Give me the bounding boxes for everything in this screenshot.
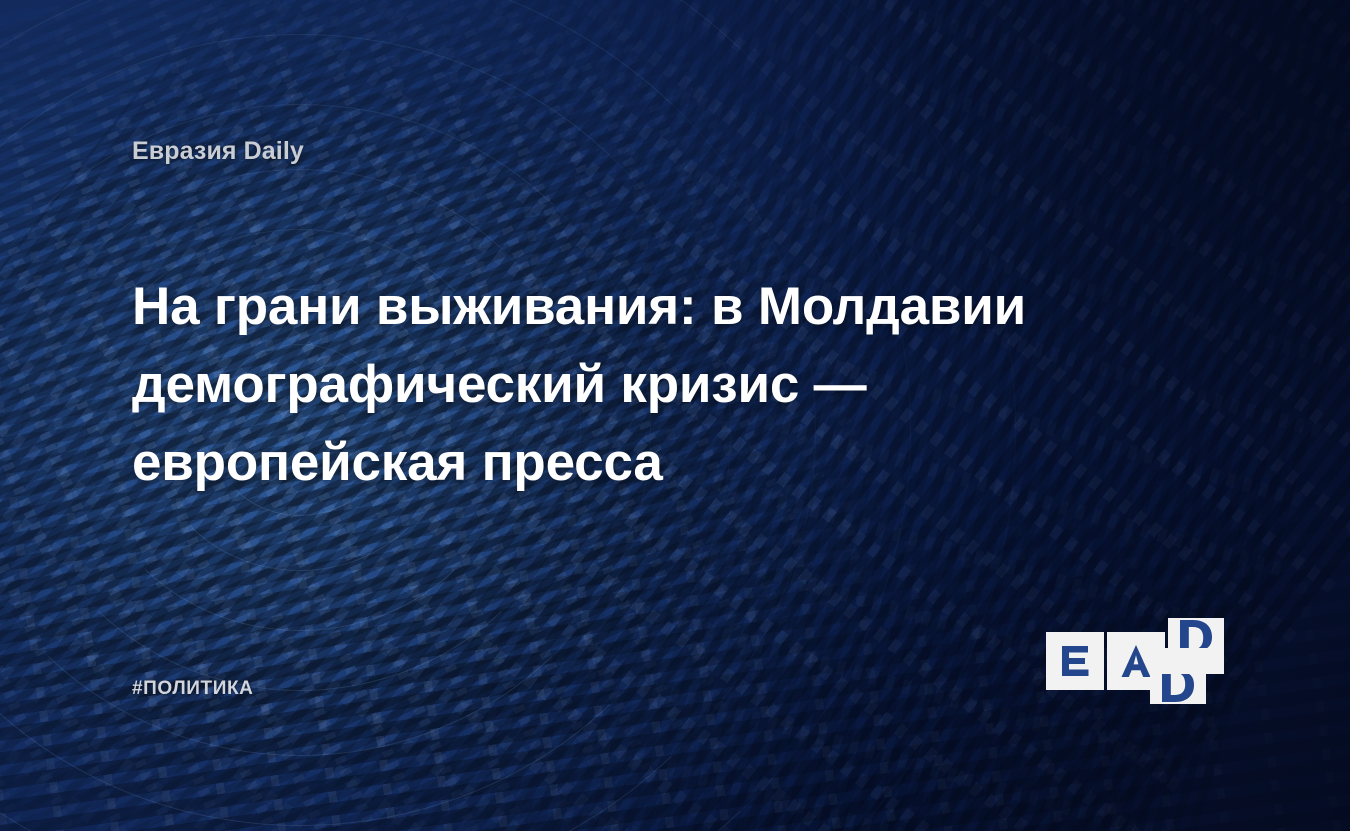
category-tag[interactable]: #ПОЛИТИКА	[132, 678, 254, 700]
logo-tile-e	[1046, 632, 1104, 690]
ead-logo[interactable]	[1046, 618, 1224, 704]
card-content: Евразия Daily На грани выживания: в Молд…	[0, 0, 1350, 831]
article-share-card: Евразия Daily На грани выживания: в Молд…	[0, 0, 1350, 831]
brand-name: Евразия Daily	[132, 137, 304, 166]
headline-title: На грани выживания: в Молдавии демографи…	[132, 268, 1092, 502]
logo-tile-d-bottom-half	[1150, 648, 1206, 704]
